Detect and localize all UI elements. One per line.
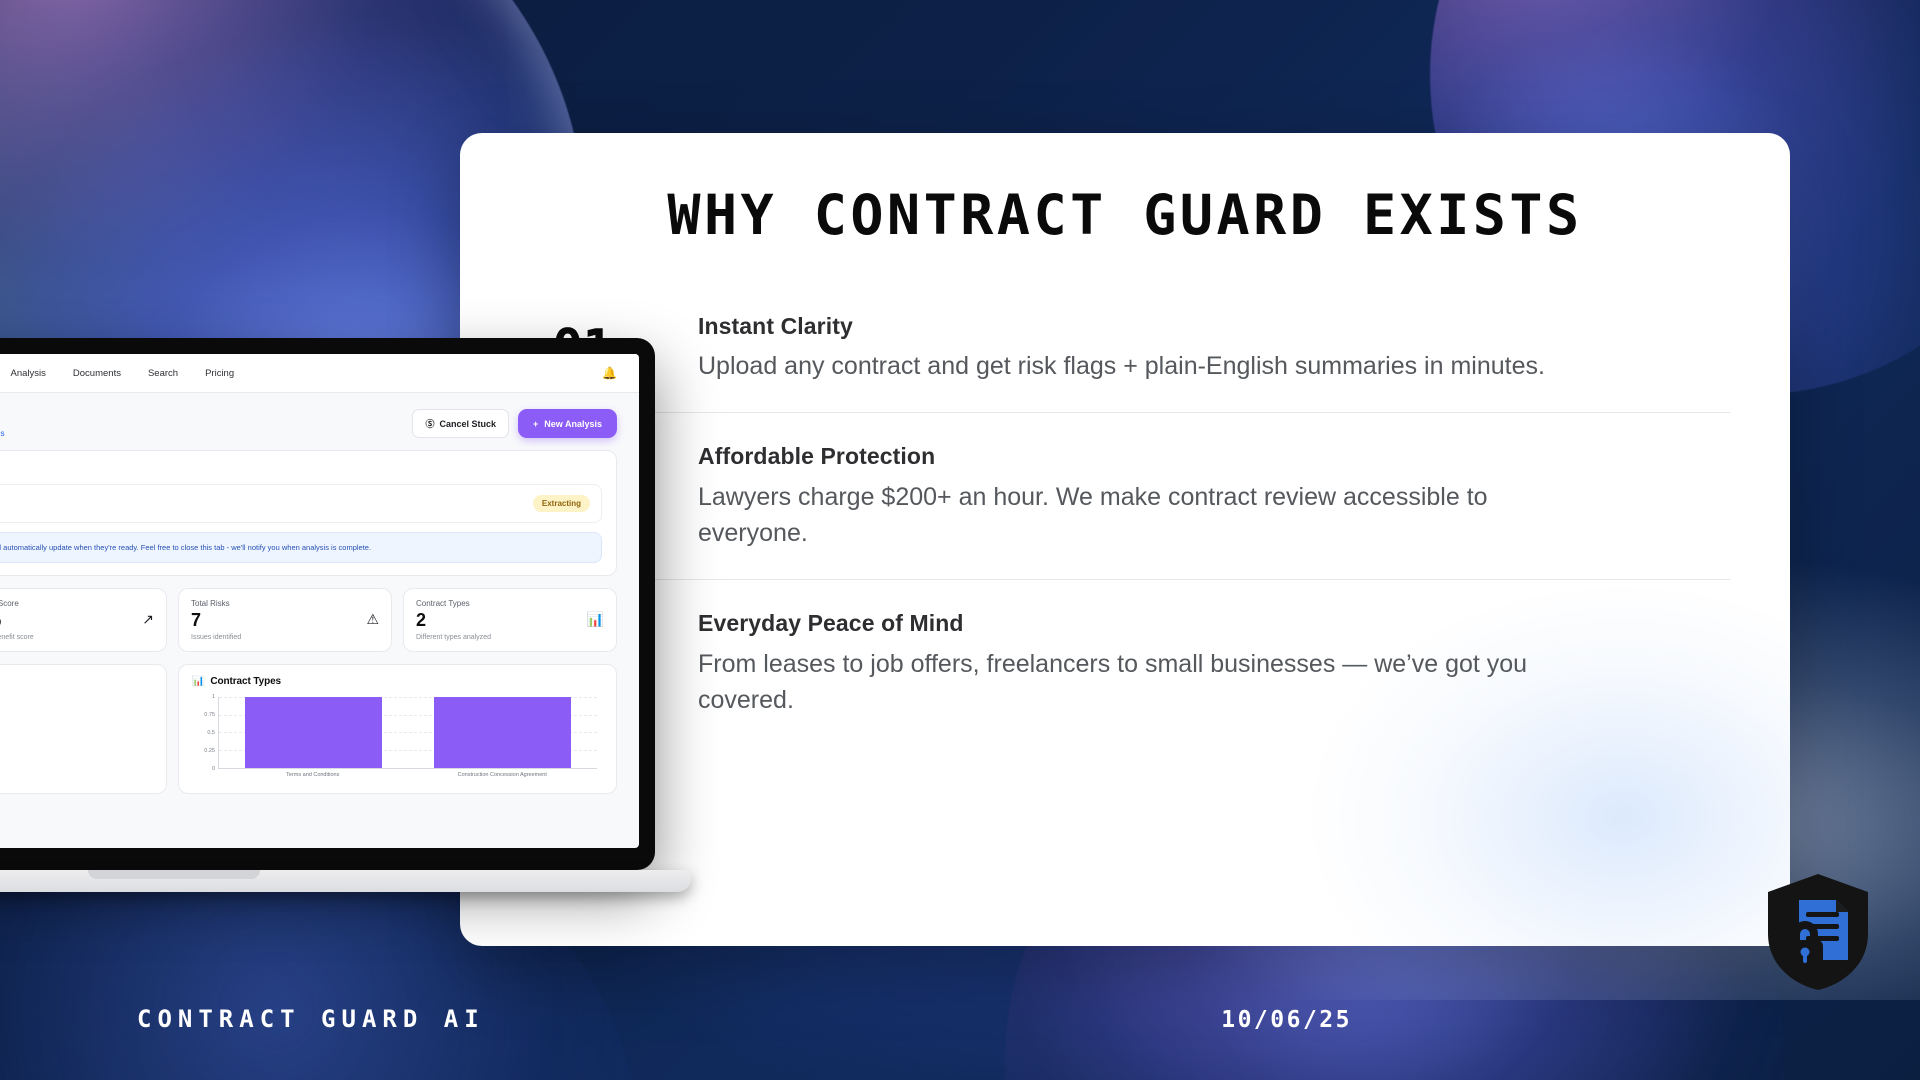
laptop-base xyxy=(0,870,691,892)
page-title: WHY CONTRACT GUARD EXISTS xyxy=(530,185,1720,247)
cancel-stuck-button[interactable]: Ⓢ Cancel Stuck xyxy=(412,409,509,438)
bar-chart-icon: 📊 xyxy=(587,599,604,628)
stat-note: Different types analyzed xyxy=(416,634,587,641)
bar-slot xyxy=(408,697,597,768)
dashboard-navbar: ContractGuard Home Analysis Documents Se… xyxy=(0,354,639,393)
y-tick-label: 0.75 xyxy=(204,712,215,718)
trending-up-icon: ↗ xyxy=(142,599,154,628)
list-item: 02 Affordable Protection Lawyers charge … xyxy=(552,413,1730,580)
stat-label: Total Risks xyxy=(191,599,366,608)
nav-link-documents[interactable]: Documents xyxy=(73,368,121,379)
types-chart-title-text: Contract Types xyxy=(210,676,281,687)
status-text: Analysis in progress xyxy=(0,428,5,438)
types-chart-title: 📊 Contract Types xyxy=(192,676,603,687)
x-tick-label: Terms and Conditions xyxy=(218,772,408,778)
list-item-description: Lawyers charge $200+ an hour. We make co… xyxy=(698,479,1553,552)
bar[interactable] xyxy=(245,697,383,768)
list-item-title: Affordable Protection xyxy=(698,439,1730,474)
plus-icon: + xyxy=(533,419,538,429)
y-tick-label: 1 xyxy=(212,694,215,700)
nav-link-search[interactable]: Search xyxy=(148,368,178,379)
list-item-description: Upload any contract and get risk flags +… xyxy=(698,348,1553,384)
stat-value: 21% xyxy=(0,610,142,631)
shield-document-lock-icon xyxy=(1764,872,1872,992)
document-status-badge: Extracting xyxy=(533,495,590,512)
analyzing-card-title: ⏱ Documents Being Analyzed xyxy=(0,463,602,474)
bar-chart-y-axis: 00.250.50.751 xyxy=(192,697,218,769)
footer-date: 10/06/25 xyxy=(1221,1007,1352,1033)
analysis-info-alert: ⓘ Your documents are being analyzed in t… xyxy=(0,532,602,563)
y-tick-label: 0.5 xyxy=(207,730,215,736)
stat-card-total-risks: Total Risks 7 Issues identified ⚠ xyxy=(178,588,392,652)
stat-value: 2 xyxy=(416,610,587,631)
dashboard-actions: Ⓢ Cancel Stuck + New Analysis xyxy=(412,405,617,438)
bar[interactable] xyxy=(434,697,572,768)
dashboard-screenshot: ContractGuard Home Analysis Documents Se… xyxy=(0,354,639,848)
reasons-list: 01 Instant Clarity Upload any contract a… xyxy=(552,283,1730,747)
y-tick-label: 0.25 xyxy=(204,748,215,754)
footer-brand: CONTRACT GUARD AI xyxy=(137,1005,485,1033)
bar-chart-icon: 📊 xyxy=(192,676,204,687)
new-analysis-button[interactable]: + New Analysis xyxy=(518,409,617,438)
analysis-info-alert-text: Your documents are being analyzed in the… xyxy=(0,542,371,553)
nav-link-analysis[interactable]: Analysis xyxy=(11,368,46,379)
stat-value: 7 xyxy=(191,610,366,631)
stat-label: Average Score xyxy=(0,599,142,608)
status-badge: Analysis in progress xyxy=(0,428,5,438)
stat-card-contract-types: Contract Types 2 Different types analyze… xyxy=(403,588,617,652)
list-item: 01 Instant Clarity Upload any contract a… xyxy=(552,283,1730,414)
x-tick-label: Construction Concession Agreement xyxy=(408,772,598,778)
document-row[interactable]: ⏱ Lease.pdf Uploaded Oct 2, 02:41 Extrac… xyxy=(0,484,602,523)
warning-triangle-icon: ⚠ xyxy=(366,599,379,628)
dashboard-page-header: Contract Portfolio Manage and analyze al… xyxy=(0,405,617,438)
bar-chart: 00.250.50.751 Terms and ConditionsConstr… xyxy=(192,693,603,787)
stat-label: Contract Types xyxy=(416,599,587,608)
dashboard-subtitle: Manage and analyze all your contract doc… xyxy=(0,428,5,438)
list-item-description: From leases to job offers, freelancers t… xyxy=(698,646,1553,719)
stat-card-average-score: Average Score 21% Portfolio benefit scor… xyxy=(0,588,167,652)
charts-row: ⚠ Risk Distribution High Risk: 43% Mediu… xyxy=(0,664,617,794)
laptop-notch xyxy=(88,870,260,879)
bar-slot xyxy=(219,697,408,768)
risk-chart-title: ⚠ Risk Distribution xyxy=(0,676,153,687)
contract-types-chart: 📊 Contract Types 00.250.50.751 Terms and… xyxy=(178,664,617,794)
nav-link-pricing[interactable]: Pricing xyxy=(205,368,234,379)
y-tick-label: 0 xyxy=(212,766,215,772)
list-item-title: Instant Clarity xyxy=(698,309,1730,344)
stat-note: Portfolio benefit score xyxy=(0,634,142,641)
laptop-mockup: ContractGuard Home Analysis Documents Se… xyxy=(0,338,655,892)
new-analysis-label: New Analysis xyxy=(544,419,602,429)
list-item-title: Everyday Peace of Mind xyxy=(698,606,1730,641)
content-panel: WHY CONTRACT GUARD EXISTS 01 Instant Cla… xyxy=(460,133,1790,946)
dashboard-heading: Contract Portfolio xyxy=(0,405,5,425)
documents-being-analyzed-card: ⏱ Documents Being Analyzed ⏱ Lease.pdf U… xyxy=(0,450,617,576)
dashboard-nav-links: Home Analysis Documents Search Pricing xyxy=(0,368,234,379)
bell-icon[interactable]: 🔔 xyxy=(602,366,617,380)
laptop-screen-bezel: ContractGuard Home Analysis Documents Se… xyxy=(0,338,655,870)
risk-distribution-chart: ⚠ Risk Distribution High Risk: 43% Mediu… xyxy=(0,664,167,794)
list-item: 03 Everyday Peace of Mind From leases to… xyxy=(552,580,1730,746)
stat-cards: Total Documents 5 Analyzed contracts 🖹 A… xyxy=(0,588,617,652)
stop-circle-icon: Ⓢ xyxy=(425,417,434,430)
bar-chart-plot xyxy=(218,697,597,769)
stat-note: Issues identified xyxy=(191,634,366,641)
cancel-stuck-label: Cancel Stuck xyxy=(440,419,497,429)
bar-chart-x-labels: Terms and ConditionsConstruction Concess… xyxy=(218,772,597,778)
pie-chart: High Risk: 43% Medium Risk: 57% xyxy=(0,687,153,782)
